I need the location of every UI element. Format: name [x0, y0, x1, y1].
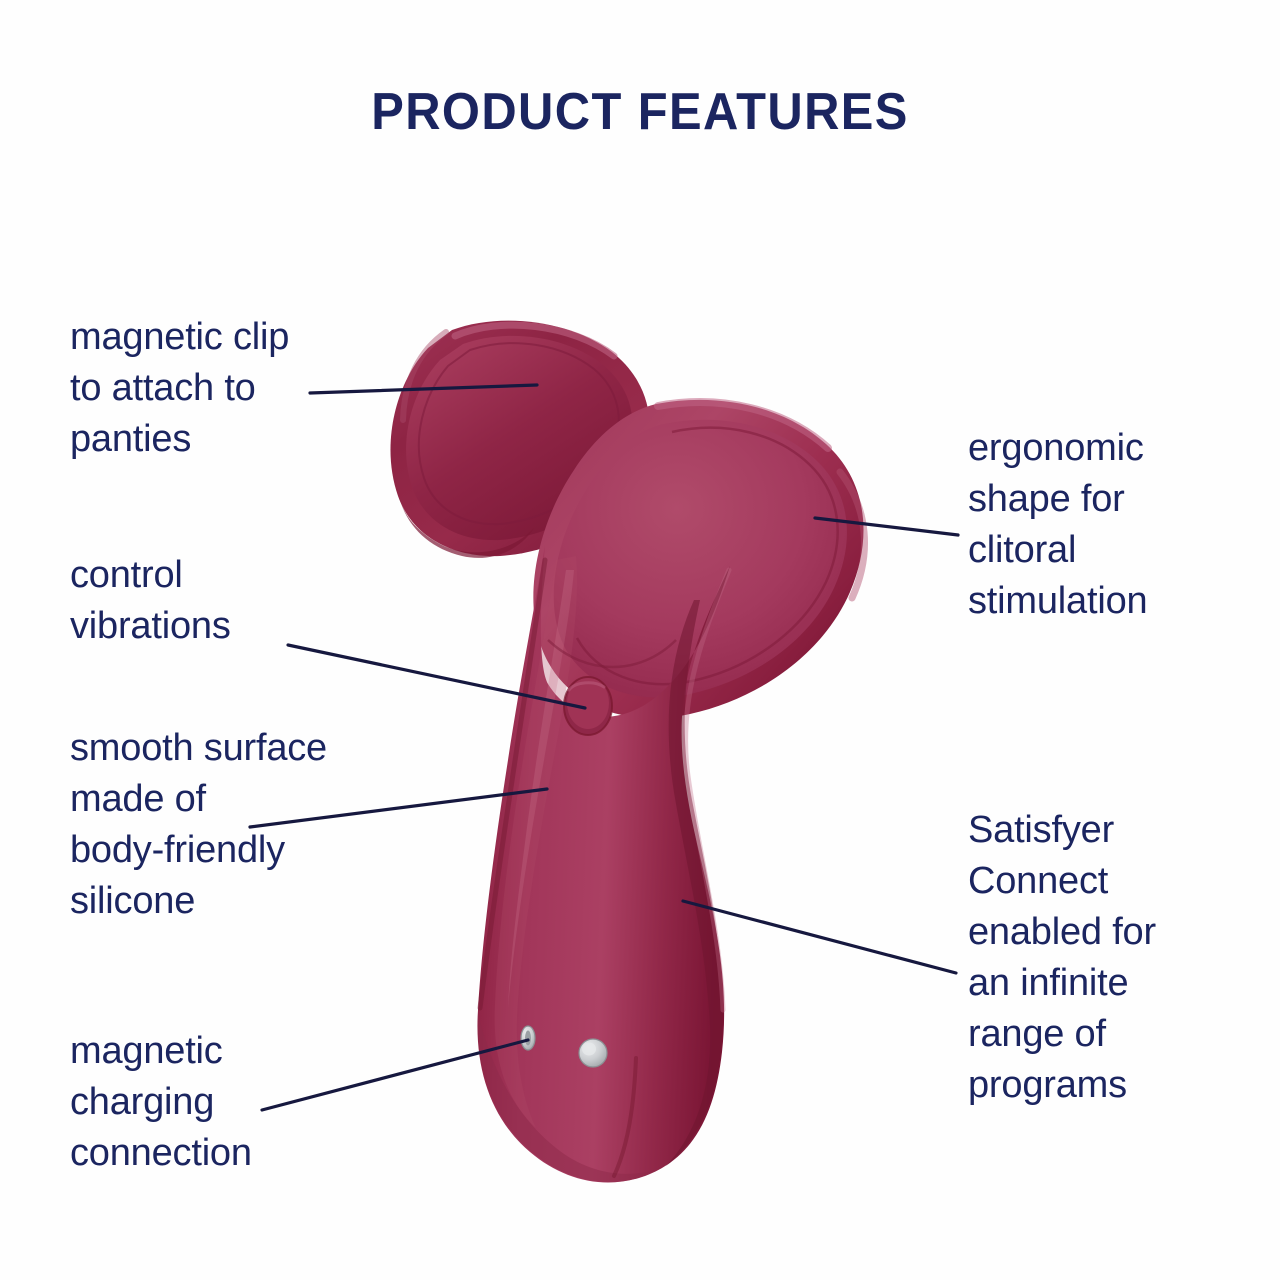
callout-satisfyer-connect: Satisfyer Connect enabled for an infinit… — [968, 805, 1156, 1111]
callout-smooth-surface: smooth surface made of body-friendly sil… — [70, 723, 327, 927]
product-features-infographic: PRODUCT FEATURES — [0, 0, 1280, 1280]
callout-ergonomic-shape: ergonomic shape for clitoral stimulation — [968, 423, 1147, 627]
callout-magnetic-clip: magnetic clip to attach to panties — [70, 312, 289, 465]
callout-control-vibrations: control vibrations — [70, 550, 231, 652]
line-satisfyer-connect — [683, 901, 956, 973]
charging-contact-round — [579, 1039, 607, 1067]
callout-magnetic-charging: magnetic charging connection — [70, 1026, 252, 1179]
charging-contact-small — [521, 1026, 535, 1050]
